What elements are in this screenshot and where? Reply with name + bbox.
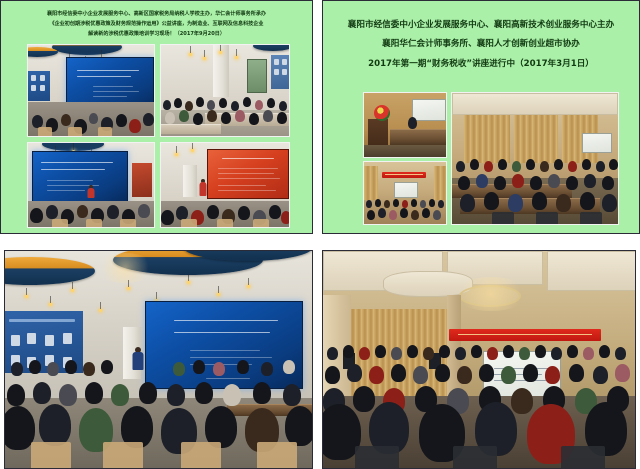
poster-panel-left: 襄阳市经信委中小企业发展服务中心、高新区国家税务局纳税人学校主办，华仁会计师事务… [0, 0, 313, 234]
poster-left-photo-3 [27, 142, 155, 228]
poster-right-photo-1 [363, 92, 447, 158]
poster-right-headline-line-3: 2017年第一期“财务税收”讲座进行中（2017年3月1日） [331, 55, 631, 74]
poster-left-inner: 襄阳市经信委中小企业发展服务中心、高新区国家税务局纳税人学校主办，华仁会计师事务… [5, 4, 308, 229]
audience [323, 328, 635, 468]
poster-right-headline-line-2: 襄阳华仁会计师事务所、襄阳人才创新创业超市协办 [331, 35, 631, 54]
poster-left-photo-4 [160, 142, 290, 228]
poster-left-headline-line-1: 襄阳市经信委中小企业发展服务中心、高新区国家税务局纳税人学校主办，华仁会计师事务… [9, 10, 304, 20]
poster-left-photo-1 [27, 44, 155, 137]
collage-page: 襄阳市经信委中小企业发展服务中心、高新区国家税务局纳税人学校主办，华仁会计师事务… [0, 0, 640, 469]
poster-left-photo-grid [5, 40, 308, 229]
poster-left-photo-2 [160, 44, 290, 137]
poster-left-headline-line-3: 解读新的涉税优惠政策培训学习现场！（2017年9月20日） [9, 30, 304, 40]
poster-right-headline: 襄阳市经信委中小企业发展服务中心、襄阳高新技术创业服务中心主办 襄阳华仁会计师事… [327, 4, 635, 74]
poster-right-photo-grid [327, 74, 635, 229]
poster-right-photo-3 [451, 92, 619, 225]
poster-panel-right: 襄阳市经信委中小企业发展服务中心、襄阳高新技术创业服务中心主办 襄阳华仁会计师事… [322, 0, 640, 234]
poster-right-inner: 襄阳市经信委中小企业发展服务中心、襄阳高新技术创业服务中心主办 襄阳华仁会计师事… [327, 4, 635, 229]
poster-left-headline: 襄阳市经信委中小企业发展服务中心、高新区国家税务局纳税人学校主办，华仁会计师事务… [5, 4, 308, 40]
photo-bottom-right [322, 250, 636, 469]
poster-right-headline-line-1: 襄阳市经信委中小企业发展服务中心、襄阳高新技术创业服务中心主办 [331, 16, 631, 35]
poster-left-headline-line-2: 《企业初创期涉税优惠政策及财务规范操作运用》公益讲座，为制造业、互联网及信息科技… [9, 20, 304, 30]
photo-bottom-left [4, 250, 313, 469]
audience [5, 342, 312, 468]
poster-right-photo-2 [363, 161, 447, 225]
